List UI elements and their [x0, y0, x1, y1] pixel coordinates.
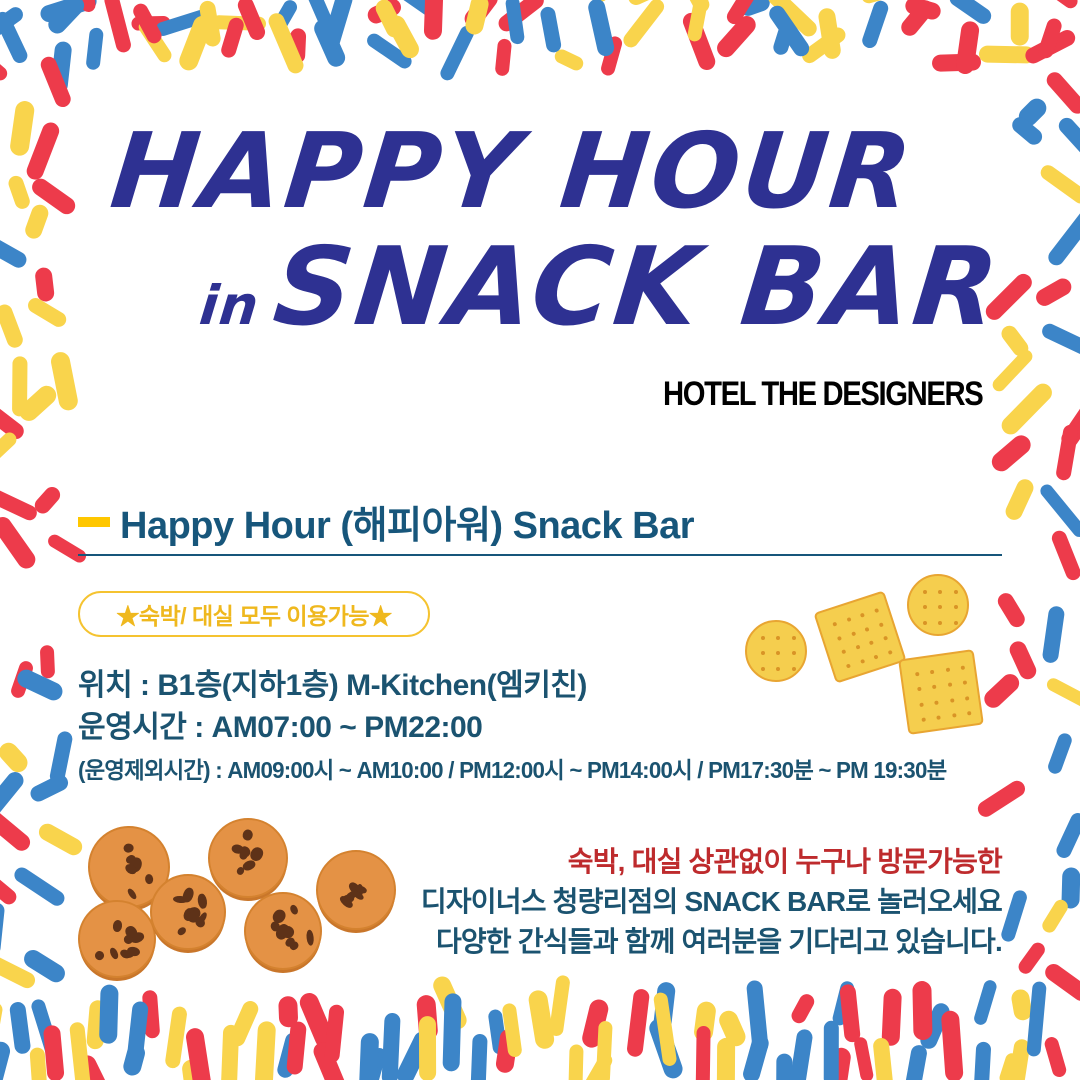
confetti-sprinkle: [142, 990, 160, 1039]
confetti-sprinkle: [395, 0, 439, 19]
confetti-sprinkle: [817, 7, 842, 60]
poster-title: HAPPY HOUR inSNACK BAR: [90, 122, 1000, 350]
availability-badge-label: ★숙박/ 대실 모두 이용가능★: [116, 597, 391, 631]
confetti-sprinkle: [860, 0, 890, 50]
header-divider: [78, 554, 1002, 556]
confetti-sprinkle: [381, 1013, 400, 1080]
confetti-sprinkle: [9, 99, 35, 156]
confetti-sprinkle: [359, 1033, 379, 1080]
confetti-sprinkle: [1046, 731, 1074, 775]
confetti-sprinkle: [9, 1001, 32, 1055]
confetti-sprinkle: [693, 1000, 717, 1042]
confetti-sprinkle: [788, 1028, 814, 1080]
confetti-sprinkle: [184, 1027, 213, 1080]
confetti-sprinkle: [25, 295, 69, 330]
cracker-dot: [938, 621, 942, 625]
confetti-sprinkle: [881, 989, 902, 1047]
confetti-sprinkle: [897, 0, 936, 39]
confetti-sprinkle: [419, 1016, 436, 1080]
confetti-sprinkle: [1041, 0, 1080, 11]
confetti-sprinkle: [1039, 897, 1070, 935]
confetti-sprinkle: [321, 0, 355, 53]
chocolate-chip: [305, 929, 314, 946]
confetti-sprinkle: [38, 54, 73, 110]
cracker-dot: [776, 651, 780, 655]
chocolate-chip: [176, 926, 188, 937]
confetti-sprinkle: [1038, 163, 1080, 207]
confetti-sprinkle: [495, 1028, 519, 1074]
confetti-sprinkle: [746, 980, 769, 1054]
confetti-sprinkle: [548, 975, 570, 1038]
confetti-sprinkle: [1061, 867, 1080, 909]
confetti-sprinkle: [384, 13, 422, 63]
confetti-sprinkle: [1008, 114, 1045, 149]
cracker-dot: [792, 651, 796, 655]
confetti-sprinkle: [600, 35, 624, 77]
promo-line-1: 숙박, 대실 상관없이 누구나 방문가능한: [362, 842, 1002, 882]
confetti-sprinkle: [913, 981, 933, 1040]
confetti-sprinkle: [311, 17, 347, 69]
confetti-sprinkle: [1000, 889, 1029, 943]
confetti-sprinkle: [0, 768, 27, 820]
confetti-sprinkle: [1037, 17, 1064, 60]
confetti-sprinkle: [1038, 482, 1080, 540]
confetti-sprinkle: [918, 1001, 952, 1052]
confetti-sprinkle: [126, 1000, 148, 1057]
cracker-dot: [761, 651, 765, 655]
confetti-sprinkle: [1042, 605, 1065, 664]
cracker-dot: [792, 636, 796, 640]
confetti-sprinkle: [28, 772, 71, 804]
confetti-sprinkle: [686, 0, 711, 42]
confetti-sprinkle: [470, 1034, 488, 1080]
info-block: 위치 : B1층(지하1층) M-Kitchen(엠키친) 운영시간 : AM0…: [78, 665, 1018, 787]
confetti-sprinkle: [311, 1039, 350, 1080]
confetti-sprinkle: [946, 0, 993, 27]
confetti-sprinkle: [527, 989, 555, 1050]
chocolate-chip: [181, 886, 195, 903]
confetti-sprinkle: [941, 1010, 964, 1080]
confetti-sprinkle: [0, 302, 25, 350]
chocolate-chip: [127, 888, 139, 901]
info-hours: 운영시간 : AM07:00 ~ PM22:00: [78, 707, 1018, 749]
confetti-sprinkle: [765, 0, 820, 40]
section-header: Happy Hour (해피아워) Snack Bar: [78, 494, 694, 549]
confetti-sprinkle: [824, 1021, 839, 1080]
confetti-sprinkle: [74, 1052, 114, 1080]
title-line-happy-hour: HAPPY HOUR: [85, 122, 1005, 221]
confetti-sprinkle: [626, 988, 650, 1058]
confetti-sprinkle: [580, 997, 610, 1049]
cookie-icon: [208, 818, 288, 898]
confetti-sprinkle: [131, 15, 171, 30]
confetti-sprinkle: [0, 739, 32, 776]
confetti-sprinkle: [265, 11, 305, 76]
confetti-sprinkle: [0, 803, 33, 855]
chocolate-chip: [239, 850, 248, 860]
confetti-sprinkle: [788, 991, 817, 1026]
confetti-sprinkle: [30, 998, 61, 1060]
confetti-sprinkle: [740, 1032, 770, 1080]
confetti-sprinkle: [568, 1044, 584, 1080]
confetti-sprinkle: [323, 1004, 344, 1064]
confetti-sprinkle: [69, 1021, 93, 1080]
cracker-dot: [837, 636, 842, 641]
confetti-sprinkle: [0, 230, 29, 271]
cracker-dot: [938, 590, 942, 594]
confetti-sprinkle: [103, 0, 133, 54]
confetti-sprinkle: [717, 1037, 735, 1080]
confetti-sprinkle: [136, 17, 174, 65]
confetti-sprinkle: [0, 53, 10, 84]
cracker-dot: [954, 605, 958, 609]
confetti-sprinkle: [278, 996, 298, 1027]
confetti-sprinkle: [586, 0, 615, 58]
confetti-sprinkle: [35, 267, 55, 302]
confetti-sprinkle: [198, 0, 221, 48]
confetti-sprinkle: [394, 1028, 435, 1080]
chocolate-chip: [241, 829, 253, 842]
confetti-sprinkle: [0, 1001, 4, 1042]
confetti-sprinkle: [577, 1051, 615, 1080]
confetti-sprinkle: [0, 402, 27, 442]
confetti-sprinkle: [31, 483, 63, 517]
confetti-sprinkle: [1026, 981, 1047, 1057]
confetti-sprinkle: [297, 990, 337, 1051]
confetti-sprinkle: [24, 120, 62, 182]
confetti-sprinkle: [0, 902, 6, 956]
availability-badge: ★숙박/ 대실 모두 이용가능★: [78, 591, 430, 637]
cracker-dot: [860, 659, 865, 664]
cracker-dot: [846, 617, 851, 622]
confetti-sprinkle: [86, 27, 104, 70]
title-word-in: in: [197, 274, 263, 337]
confetti-sprinkle: [121, 1042, 147, 1078]
confetti-sprinkle: [853, 1036, 875, 1080]
confetti-sprinkle: [717, 1008, 749, 1049]
confetti-sprinkle: [1010, 988, 1033, 1022]
confetti-sprinkle: [495, 38, 513, 76]
confetti-sprinkle: [286, 1020, 307, 1074]
title-line-snack-bar: inSNACK BAR: [83, 225, 1006, 350]
confetti-sprinkle: [1054, 810, 1080, 860]
confetti-sprinkle: [765, 2, 812, 59]
confetti-sprinkle: [595, 1021, 612, 1080]
confetti-sprinkle: [219, 16, 245, 59]
confetti-sprinkle: [1040, 321, 1080, 360]
confetti-sprinkle: [681, 10, 718, 72]
confetti-sprinkle: [50, 41, 73, 95]
cookie-icon: [150, 874, 226, 950]
confetti-sprinkle: [998, 380, 1056, 438]
cracker-dot: [888, 650, 893, 655]
confetti-sprinkle: [725, 0, 759, 27]
confetti-sprinkle: [462, 0, 502, 32]
confetti-sprinkle: [737, 0, 772, 19]
confetti-sprinkle: [1015, 95, 1050, 130]
confetti-sprinkle: [714, 12, 760, 61]
confetti-sprinkle: [620, 0, 667, 51]
cracker-dot: [883, 636, 888, 641]
confetti-sprinkle: [10, 660, 35, 701]
confetti-sprinkle: [12, 865, 67, 909]
confetti-sprinkle: [1003, 476, 1037, 522]
chocolate-chip: [144, 873, 153, 884]
confetti-sprinkle: [859, 0, 901, 5]
confetti-sprinkle: [164, 1006, 188, 1070]
confetti-sprinkle: [998, 322, 1031, 359]
yellow-dash-marker: [78, 517, 110, 527]
confetti-sprinkle: [50, 350, 80, 412]
confetti-sprinkle: [40, 645, 55, 679]
confetti-sprinkle: [1050, 528, 1080, 582]
confetti-sprinkle: [988, 431, 1034, 474]
confetti-sprinkle: [15, 382, 60, 425]
cracker-dot: [954, 590, 958, 594]
cracker-dot: [832, 622, 837, 627]
cracker-dot: [938, 605, 942, 609]
confetti-sprinkle: [1042, 961, 1080, 1005]
confetti-sprinkle: [30, 1047, 49, 1080]
chocolate-chip: [289, 904, 300, 916]
confetti-sprinkle: [627, 0, 661, 7]
cracker-dot: [761, 636, 765, 640]
confetti-sprinkle: [577, 0, 610, 4]
confetti-sprinkle: [932, 54, 981, 73]
confetti-sprinkle: [0, 10, 30, 66]
confetti-sprinkle: [772, 23, 795, 56]
confetti-sprinkle: [652, 992, 677, 1067]
section-header-label: Happy Hour (해피아워) Snack Bar: [120, 494, 694, 549]
confetti-sprinkle: [552, 47, 585, 73]
confetti-sprinkle: [989, 347, 1035, 394]
cracker-dot: [923, 621, 927, 625]
chocolate-chip: [93, 949, 106, 962]
confetti-sprinkle: [979, 46, 1036, 64]
confetti-sprinkle: [505, 0, 526, 45]
confetti-sprinkle: [39, 0, 99, 24]
confetti-sprinkle: [365, 30, 415, 70]
confetti-sprinkle: [0, 430, 19, 470]
cracker-dot: [776, 636, 780, 640]
cracker-icon: [907, 574, 969, 636]
confetti-sprinkle: [873, 1038, 895, 1080]
confetti-sprinkle: [44, 1024, 65, 1080]
confetti-sprinkle: [177, 13, 215, 73]
confetti-sprinkle: [496, 0, 547, 34]
confetti-sprinkle: [423, 0, 444, 40]
confetti-sprinkle: [997, 1051, 1019, 1080]
confetti-sprinkle: [831, 980, 856, 1027]
confetti-sprinkle: [1010, 2, 1028, 45]
confetti-sprinkle: [289, 28, 307, 64]
confetti-sprinkle: [20, 946, 67, 985]
confetti-sprinkle: [501, 1003, 522, 1058]
cookie-icon: [244, 892, 322, 970]
confetti-sprinkle: [0, 513, 40, 572]
cracker-dot: [865, 626, 870, 631]
confetti-sprinkle: [212, 15, 266, 31]
confetti-sprinkle: [0, 953, 37, 990]
confetti-sprinkle: [236, 0, 268, 43]
cracker-dot: [923, 590, 927, 594]
chocolate-chip: [108, 947, 119, 961]
confetti-sprinkle: [0, 1040, 12, 1080]
confetti-sprinkle: [827, 1046, 852, 1080]
confetti-sprinkle: [0, 484, 40, 523]
cracker-dot: [851, 631, 856, 636]
confetti-sprinkle: [839, 983, 861, 1042]
chocolate-chip: [198, 893, 209, 909]
hotel-name: HOTEL THE DESIGNERS: [663, 375, 982, 414]
confetti-sprinkle: [221, 1025, 240, 1080]
confetti-sprinkle: [154, 6, 216, 38]
confetti-sprinkle: [131, 1, 164, 46]
confetti-sprinkle: [275, 1031, 303, 1080]
confetti-sprinkle: [1043, 69, 1080, 117]
confetti-sprinkle: [1045, 208, 1080, 269]
cracker-dot: [860, 612, 865, 617]
confetti-sprinkle: [29, 175, 79, 218]
happy-hour-poster: HAPPY HOUR inSNACK BAR HOTEL THE DESIGNE…: [0, 0, 1080, 1080]
chocolate-chip: [122, 843, 133, 853]
confetti-sprinkle: [799, 25, 848, 66]
confetti-sprinkle: [1033, 275, 1074, 308]
promo-block: 숙박, 대실 상관없이 누구나 방문가능한 디자이너스 청량리점의 SNACK …: [362, 842, 1002, 962]
confetti-sprinkle: [15, 667, 66, 703]
cracker-dot: [954, 621, 958, 625]
confetti-sprinkle: [646, 1016, 684, 1080]
confetti-sprinkle: [272, 0, 300, 32]
confetti-sprinkle: [1043, 1035, 1068, 1078]
confetti-sprinkle: [22, 202, 50, 241]
confetti-sprinkle: [955, 20, 980, 75]
confetti-sprinkle: [1022, 28, 1078, 67]
confetti-sprinkle: [431, 974, 470, 1033]
confetti-sprinkle: [540, 5, 563, 53]
confetti-sprinkle: [6, 174, 32, 211]
confetti-sprinkle: [903, 0, 942, 22]
confetti-sprinkle: [0, 859, 19, 907]
confetti-sprinkle: [45, 0, 89, 37]
cracker-dot: [923, 605, 927, 609]
confetti-sprinkle: [49, 730, 74, 784]
confetti-sprinkle: [12, 356, 27, 416]
confetti-sprinkle: [78, 0, 97, 13]
confetti-sprinkle: [1044, 676, 1080, 709]
cracker-dot: [869, 641, 874, 646]
confetti-sprinkle: [1055, 114, 1080, 163]
cracker-dot: [874, 655, 879, 660]
confetti-sprinkle: [228, 999, 262, 1049]
confetti-sprinkle: [417, 994, 439, 1040]
cracker-dot: [874, 608, 879, 613]
confetti-sprinkle: [86, 1000, 107, 1050]
confetti-sprinkle: [365, 0, 404, 26]
confetti-sprinkle: [255, 1021, 276, 1080]
confetti-sprinkle: [0, 5, 26, 40]
confetti-sprinkle: [972, 979, 998, 1027]
cracker-dot: [879, 622, 884, 627]
cookie-icon: [78, 900, 156, 978]
confetti-sprinkle: [695, 1026, 710, 1080]
confetti-sprinkle: [487, 1009, 507, 1056]
info-excluded-hours: (운영제외시간) : AM09:00시 ~ AM10:00 / PM12:00시…: [78, 753, 990, 787]
promo-line-3: 다양한 간식들과 함께 여러분을 기다리고 있습니다.: [362, 922, 1002, 962]
confetti-sprinkle: [306, 0, 335, 30]
confetti-sprinkle: [222, 1062, 237, 1080]
cracker-dot: [855, 645, 860, 650]
confetti-sprinkle: [902, 1044, 928, 1080]
confetti-sprinkle: [1058, 396, 1080, 451]
confetti-sprinkle: [442, 993, 461, 1072]
chocolate-chip: [112, 920, 123, 933]
confetti-sprinkle: [652, 981, 676, 1033]
confetti-sprinkle: [973, 1042, 991, 1080]
promo-line-2: 디자이너스 청량리점의 SNACK BAR로 놀러오세요: [362, 882, 1002, 922]
info-location: 위치 : B1층(지하1층) M-Kitchen(엠키친): [78, 665, 1018, 707]
confetti-sprinkle: [438, 23, 476, 82]
cracker-dot: [841, 650, 846, 655]
confetti-sprinkle: [181, 1059, 204, 1080]
confetti-sprinkle: [373, 0, 407, 41]
confetti-sprinkle: [98, 985, 118, 1045]
confetti-sprinkle: [358, 1046, 388, 1080]
confetti-sprinkle: [1055, 424, 1079, 482]
confetti-sprinkle: [464, 0, 491, 36]
confetti-sprinkle: [1015, 939, 1047, 976]
confetti-sprinkle: [776, 1054, 792, 1080]
title-word-snack-bar: SNACK BAR: [268, 225, 1006, 350]
confetti-sprinkle: [1003, 1038, 1031, 1080]
confetti-sprinkle: [680, 0, 712, 15]
